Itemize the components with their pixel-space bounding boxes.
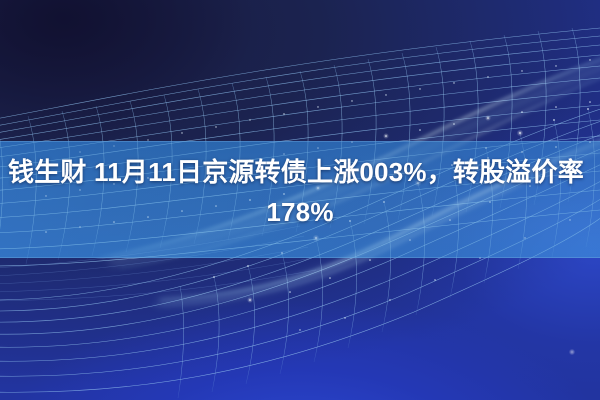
headline: 钱生财 11月11日京源转债上涨003%，转股溢价率 178% bbox=[8, 152, 592, 232]
headline-line-2: 178% bbox=[8, 192, 592, 232]
band-top-edge bbox=[0, 141, 600, 142]
banner-image: 钱生财 11月11日京源转债上涨003%，转股溢价率 178% bbox=[0, 0, 600, 400]
headline-line-1: 钱生财 11月11日京源转债上涨003%，转股溢价率 bbox=[8, 152, 592, 192]
band-bottom-edge bbox=[0, 257, 600, 258]
